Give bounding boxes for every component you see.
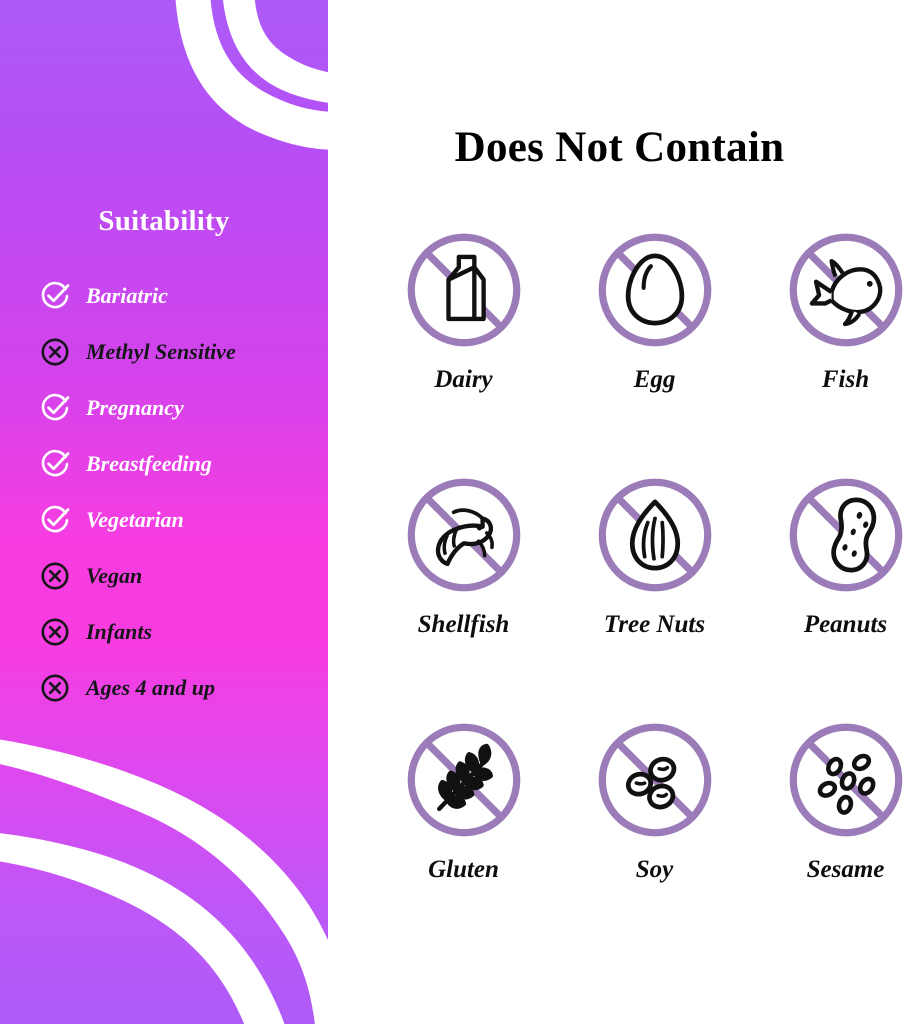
allergen-cell-tree-nuts: Tree Nuts <box>559 473 750 718</box>
allergen-label: Shellfish <box>418 611 510 639</box>
shrimp-icon <box>402 473 526 597</box>
allergen-label: Egg <box>634 366 676 394</box>
page-title: Does Not Contain <box>328 123 911 172</box>
x-circle-icon <box>40 561 70 591</box>
allergen-cell-dairy: Dairy <box>368 228 559 473</box>
suitability-item-bariatric: Bariatric <box>40 268 328 324</box>
suitability-list: Bariatric Methyl Sensitive Pregnancy <box>40 268 328 716</box>
allergen-label: Peanuts <box>804 611 887 639</box>
suitability-heading: Suitability <box>0 205 328 238</box>
allergen-label: Tree Nuts <box>604 611 705 639</box>
almond-icon <box>593 473 717 597</box>
suitability-item-ages-4-and-up: Ages 4 and up <box>40 660 328 716</box>
suitability-item-label: Pregnancy <box>86 395 184 421</box>
suitability-item-methyl-sensitive: Methyl Sensitive <box>40 324 328 380</box>
suitability-item-pregnancy: Pregnancy <box>40 380 328 436</box>
suitability-item-label: Breastfeeding <box>86 451 212 477</box>
suitability-item-label: Methyl Sensitive <box>86 339 236 365</box>
suitability-item-infants: Infants <box>40 604 328 660</box>
sesame-seeds-icon <box>784 718 908 842</box>
check-circle-icon <box>40 393 70 423</box>
suitability-item-label: Infants <box>86 619 152 645</box>
allergen-row: Shellfish Tree Nuts <box>368 473 888 718</box>
allergen-cell-shellfish: Shellfish <box>368 473 559 718</box>
allergen-cell-sesame: Sesame <box>750 718 911 963</box>
suitability-item-label: Ages 4 and up <box>86 675 215 701</box>
suitability-content: Suitability Bariatric Methyl Sensitive <box>0 0 328 1024</box>
suitability-panel: Suitability Bariatric Methyl Sensitive <box>0 0 328 1024</box>
soybean-icon <box>593 718 717 842</box>
x-circle-icon <box>40 337 70 367</box>
allergen-row: Gluten Soy <box>368 718 888 963</box>
milk-carton-icon <box>402 228 526 352</box>
allergen-label: Gluten <box>428 856 499 884</box>
allergen-label: Dairy <box>434 366 492 394</box>
allergen-label: Soy <box>636 856 674 884</box>
allergen-cell-gluten: Gluten <box>368 718 559 963</box>
suitability-item-vegetarian: Vegetarian <box>40 492 328 548</box>
suitability-item-label: Vegan <box>86 563 142 589</box>
allergen-label: Fish <box>822 366 869 394</box>
allergen-grid: Dairy Egg <box>368 228 888 963</box>
allergen-cell-soy: Soy <box>559 718 750 963</box>
allergen-label: Sesame <box>807 856 885 884</box>
wheat-icon <box>402 718 526 842</box>
check-circle-icon <box>40 281 70 311</box>
allergen-cell-peanuts: Peanuts <box>750 473 911 718</box>
nutrition-label-graphic: Suitability Bariatric Methyl Sensitive <box>0 0 911 1024</box>
peanut-icon <box>784 473 908 597</box>
x-circle-icon <box>40 617 70 647</box>
check-circle-icon <box>40 449 70 479</box>
allergen-row: Dairy Egg <box>368 228 888 473</box>
suitability-item-vegan: Vegan <box>40 548 328 604</box>
x-circle-icon <box>40 673 70 703</box>
suitability-item-label: Vegetarian <box>86 507 184 533</box>
fish-icon <box>784 228 908 352</box>
allergen-cell-egg: Egg <box>559 228 750 473</box>
suitability-item-label: Bariatric <box>86 283 168 309</box>
suitability-item-breastfeeding: Breastfeeding <box>40 436 328 492</box>
egg-icon <box>593 228 717 352</box>
allergen-cell-fish: Fish <box>750 228 911 473</box>
check-circle-icon <box>40 505 70 535</box>
